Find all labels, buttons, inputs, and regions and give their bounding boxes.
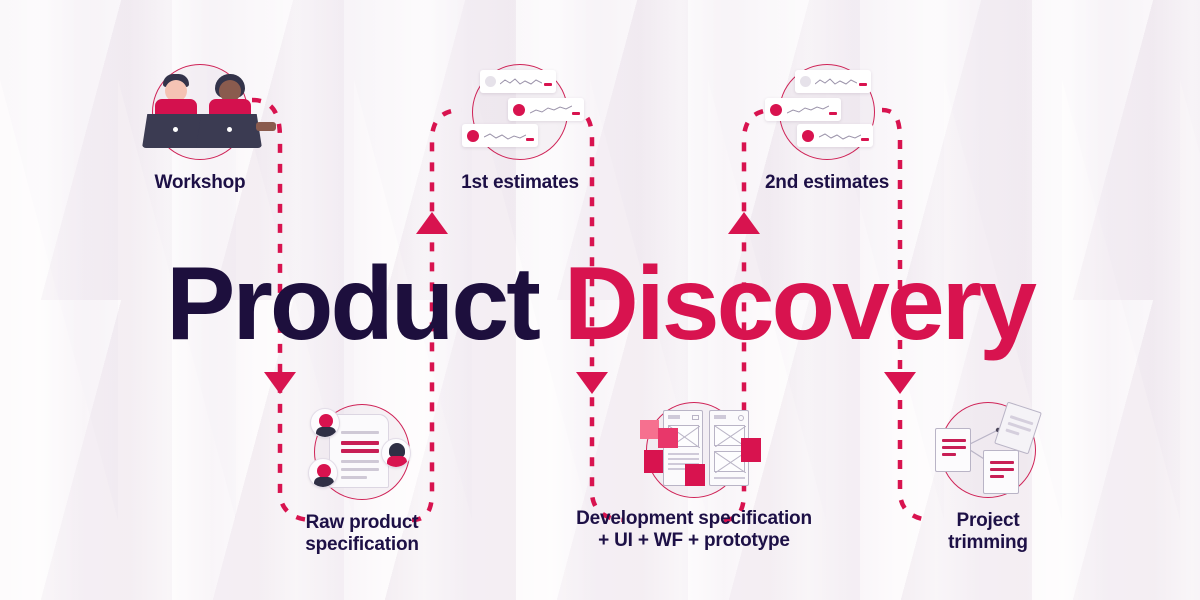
node-label-workshop: Workshop	[120, 172, 280, 194]
doc-line	[990, 475, 1004, 478]
arrow-up-to-first-estimates	[416, 212, 448, 234]
page-title: Product Discovery	[0, 252, 1200, 356]
badge-accent-icon	[802, 130, 814, 142]
document-with-collaborators-icon	[282, 400, 442, 500]
arrow-up-to-second-estimates	[728, 212, 760, 234]
doc-line	[990, 468, 1014, 471]
value-tick	[861, 138, 869, 141]
doc-line	[990, 461, 1014, 464]
wf-header-bar	[692, 415, 699, 420]
estimate-cards-icon	[440, 60, 600, 160]
node-raw-product-specification[interactable]: Raw product specification	[282, 400, 442, 555]
wf-header-bar	[714, 415, 726, 419]
badge-muted-icon	[800, 76, 811, 87]
doc-line	[1005, 428, 1019, 435]
doc-line	[942, 439, 966, 442]
two-people-at-laptops-icon	[120, 60, 280, 160]
wireframes-icon	[545, 398, 843, 498]
badge-accent-icon	[513, 104, 525, 116]
doc-text-line	[341, 460, 379, 463]
collaborator-avatar	[310, 408, 340, 438]
torso-icon	[316, 427, 336, 438]
accent-square	[644, 450, 663, 473]
title-word-discovery: Discovery	[564, 246, 1034, 362]
value-tick	[859, 83, 867, 86]
laptop-logo-icon	[227, 127, 232, 132]
document-card	[983, 450, 1019, 494]
torso-icon	[387, 456, 407, 468]
estimate-card	[462, 124, 538, 147]
doc-text-line	[341, 431, 379, 434]
wf-text-line	[668, 453, 699, 455]
doc-text-line	[341, 476, 367, 479]
doc-highlight-line	[341, 449, 379, 453]
sparkline-icon	[815, 77, 857, 87]
collaborator-avatar	[381, 438, 411, 468]
sparkline-icon	[530, 105, 572, 115]
estimate-card	[480, 70, 556, 93]
wf-header-bar	[668, 415, 680, 419]
wf-header-bar	[738, 415, 744, 421]
node-label-first-estimates: 1st estimates	[440, 172, 600, 194]
arrow-down-to-project-trimming	[884, 372, 916, 394]
torso-icon	[314, 477, 334, 488]
badge-accent-icon	[770, 104, 782, 116]
sparkline-icon	[819, 131, 861, 141]
laptop-logo-icon	[173, 127, 178, 132]
node-development-specification[interactable]: Development specification + UI + WF + pr…	[545, 398, 843, 551]
estimate-card	[508, 98, 584, 121]
node-second-estimates[interactable]: 2nd estimates	[747, 60, 907, 194]
badge-accent-icon	[467, 130, 479, 142]
arrow-down-to-raw-spec	[264, 372, 296, 394]
wf-text-line	[714, 477, 745, 479]
node-label-project-trimming: Project trimming	[908, 510, 1068, 553]
doc-highlight-line	[341, 441, 379, 445]
head-icon	[319, 414, 333, 428]
accent-square	[685, 464, 705, 486]
arm-icon	[256, 122, 276, 131]
title-word-product: Product	[166, 246, 538, 362]
estimate-card	[797, 124, 873, 147]
sparkline-icon	[500, 77, 542, 87]
doc-line	[942, 446, 966, 449]
infographic-canvas: Product Discovery Workshop	[0, 0, 1200, 600]
head-icon	[389, 443, 405, 457]
accent-square	[658, 428, 678, 448]
person-right	[196, 74, 262, 152]
value-tick	[829, 112, 837, 115]
value-tick	[572, 112, 580, 115]
estimate-cards-icon	[747, 60, 907, 160]
estimate-card	[795, 70, 871, 93]
value-tick	[544, 83, 552, 86]
node-workshop[interactable]: Workshop	[120, 60, 280, 194]
node-label-second-estimates: 2nd estimates	[747, 172, 907, 194]
node-first-estimates[interactable]: 1st estimates	[440, 60, 600, 194]
accent-square	[741, 438, 761, 462]
sparkline-icon	[484, 131, 526, 141]
node-label-raw-product-specification: Raw product specification	[282, 512, 442, 555]
value-tick	[526, 138, 534, 141]
node-label-development-specification: Development specification + UI + WF + pr…	[545, 508, 843, 551]
arrow-down-to-dev-spec	[576, 372, 608, 394]
accent-square-light	[640, 420, 659, 439]
head-icon	[317, 464, 331, 478]
estimate-card	[765, 98, 841, 121]
trimmed-documents-icon	[908, 398, 1068, 498]
node-project-trimming[interactable]: Project trimming	[908, 398, 1068, 553]
sparkline-icon	[787, 105, 829, 115]
collaborator-avatar	[308, 458, 338, 488]
badge-muted-icon	[485, 76, 496, 87]
wf-text-line	[668, 458, 699, 460]
doc-line	[942, 453, 956, 456]
doc-text-line	[341, 468, 379, 471]
document-card	[935, 428, 971, 472]
